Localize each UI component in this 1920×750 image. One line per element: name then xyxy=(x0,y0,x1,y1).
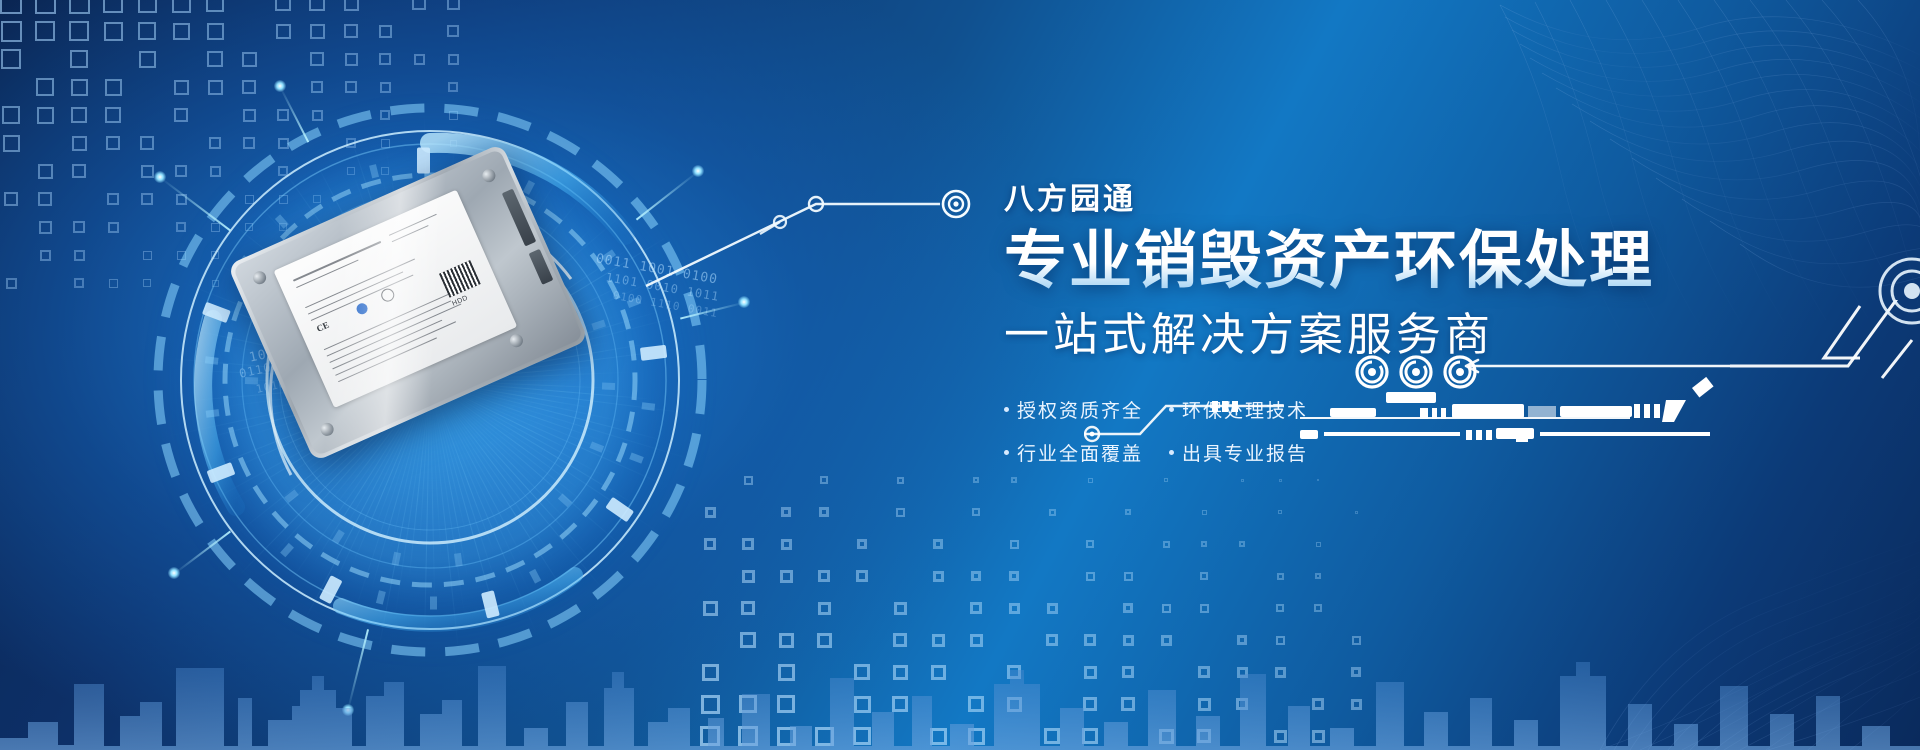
grid-square xyxy=(105,107,121,123)
radial-line xyxy=(198,370,430,381)
grid-square xyxy=(738,726,758,746)
ring-tick xyxy=(515,223,528,238)
edge-ring-icon xyxy=(1864,246,1920,336)
ring-tick xyxy=(605,497,634,522)
beam-dot-icon xyxy=(168,567,180,579)
grid-square xyxy=(1200,572,1208,580)
grid-square xyxy=(176,222,186,232)
radial-line xyxy=(298,266,430,380)
grid-square xyxy=(1084,666,1097,679)
ring-tick xyxy=(240,255,255,268)
grid-square xyxy=(1123,603,1133,613)
grid-square xyxy=(310,24,325,39)
grid-square xyxy=(452,282,454,284)
grid-square xyxy=(930,728,947,745)
grid-square xyxy=(777,727,796,746)
radial-line xyxy=(270,380,430,460)
grid-square xyxy=(817,633,832,648)
grid-square xyxy=(1009,571,1019,581)
grid-square xyxy=(103,0,123,13)
hdd-body: CE HDD xyxy=(227,143,589,461)
radial-line xyxy=(430,290,593,380)
radial-line xyxy=(424,380,430,636)
grid-square xyxy=(1083,697,1097,711)
radial-line xyxy=(266,380,430,522)
ring-tick xyxy=(205,356,219,365)
grid-square xyxy=(1237,667,1248,678)
grid-square xyxy=(1279,479,1282,482)
grid-square xyxy=(40,250,51,261)
radial-line xyxy=(430,160,483,380)
grid-square xyxy=(314,252,320,258)
grid-square xyxy=(414,54,425,65)
radial-line xyxy=(204,380,430,439)
grid-square xyxy=(1,21,22,42)
radial-line xyxy=(233,380,430,468)
radial-line xyxy=(430,380,495,552)
grid-square xyxy=(931,665,946,680)
grid-square xyxy=(1276,636,1285,645)
grid-square xyxy=(892,696,908,712)
grid-square xyxy=(1047,603,1058,614)
grid-square xyxy=(209,137,221,149)
grid-square xyxy=(450,168,456,174)
connector-node-icon xyxy=(774,216,786,228)
grid-square xyxy=(449,111,458,120)
grid-square xyxy=(276,24,291,39)
light-beam xyxy=(636,171,699,221)
radial-line xyxy=(430,366,596,381)
grid-square xyxy=(6,278,17,289)
radial-line xyxy=(235,380,430,381)
grid-square xyxy=(780,570,793,583)
grid-square xyxy=(1197,729,1211,743)
grid-square xyxy=(1046,634,1058,646)
radial-line xyxy=(332,380,430,509)
grid-square xyxy=(700,726,720,746)
beam-dot-icon xyxy=(738,296,750,308)
radial-line xyxy=(430,380,591,559)
radial-line xyxy=(430,380,500,628)
grid-square xyxy=(701,695,720,714)
grid-square xyxy=(740,632,756,648)
hard-disk-drive-image: CE HDD xyxy=(227,143,589,461)
grid-square xyxy=(73,221,85,233)
ring-tick xyxy=(430,597,437,610)
grid-square xyxy=(345,81,357,93)
grid-square xyxy=(1275,667,1286,678)
page-title: 专业销毁资产环保处理 xyxy=(1004,226,1724,298)
radial-line xyxy=(430,244,495,381)
radial-line xyxy=(415,154,430,381)
grid-square xyxy=(141,165,154,178)
grid-square xyxy=(1352,636,1361,645)
radial-line xyxy=(430,380,499,590)
radial-line xyxy=(212,304,430,381)
grid-square xyxy=(448,82,458,92)
grid-square xyxy=(174,108,188,122)
grid-square xyxy=(702,664,719,681)
beam-dot-icon xyxy=(342,704,354,716)
grid-square xyxy=(311,81,323,93)
grid-square xyxy=(140,136,154,150)
grid-square xyxy=(313,195,321,203)
grid-square xyxy=(856,570,868,582)
radial-line xyxy=(303,380,430,533)
list-item-label: 授权资质齐全 xyxy=(1017,396,1143,423)
grid-square xyxy=(705,507,716,518)
grid-square xyxy=(777,695,795,713)
radial-line xyxy=(313,380,430,564)
ring-tick xyxy=(602,383,615,390)
radial-line xyxy=(326,265,430,381)
radial-line xyxy=(430,210,435,381)
list-item-label: 出具专业报告 xyxy=(1182,439,1308,466)
grid-square xyxy=(208,80,223,95)
ring-tick xyxy=(369,164,379,178)
grid-square xyxy=(35,21,55,41)
grid-square xyxy=(968,696,984,712)
grid-square xyxy=(175,165,187,177)
radial-line xyxy=(430,343,649,381)
grid-square xyxy=(1082,728,1098,744)
hdd-label: CE HDD xyxy=(274,190,518,408)
grid-square xyxy=(779,633,794,648)
grid-square xyxy=(857,539,867,549)
radial-line xyxy=(307,232,430,381)
radial-line xyxy=(410,191,431,380)
radial-line xyxy=(430,342,611,381)
radial-line xyxy=(272,380,430,388)
grid-square xyxy=(245,195,254,204)
radial-line xyxy=(430,380,638,463)
radial-line xyxy=(382,177,431,381)
ring-tick xyxy=(376,590,386,604)
grid-square xyxy=(1202,510,1207,515)
grid-square xyxy=(309,0,325,11)
grid-square xyxy=(447,25,459,37)
ring-tick xyxy=(332,529,345,544)
radial-line xyxy=(269,273,430,381)
grid-square xyxy=(820,476,828,484)
radial-line xyxy=(430,380,524,559)
ring-tick xyxy=(202,302,231,323)
grid-square xyxy=(138,22,156,40)
radial-line xyxy=(430,380,596,409)
radial-line xyxy=(364,241,430,381)
radial-line xyxy=(430,380,668,487)
radial-line xyxy=(430,236,669,381)
grid-square xyxy=(380,82,391,93)
grid-square xyxy=(242,52,257,67)
grid-square xyxy=(970,634,983,647)
connector-line xyxy=(640,160,1000,290)
grid-square xyxy=(72,164,86,178)
list-item-label: 行业全面覆盖 xyxy=(1017,439,1143,466)
grid-square xyxy=(1351,667,1361,677)
grid-square xyxy=(280,252,287,259)
grid-square xyxy=(1164,478,1168,482)
radial-line xyxy=(430,281,630,381)
grid-square xyxy=(382,224,388,230)
radial-line xyxy=(430,380,607,594)
grid-square xyxy=(177,251,186,260)
ring-tick xyxy=(256,314,271,325)
radial-line xyxy=(430,380,542,527)
radial-line xyxy=(430,216,555,381)
radial-line xyxy=(430,380,665,441)
grid-square xyxy=(739,695,757,713)
grid-square xyxy=(1198,698,1211,711)
radial-line xyxy=(239,380,430,575)
grid-square xyxy=(1088,478,1093,483)
grid-square xyxy=(1278,510,1282,514)
grid-square xyxy=(1312,730,1325,743)
grid-square xyxy=(347,167,355,175)
ring-tick xyxy=(392,552,402,566)
grid-square xyxy=(348,224,354,230)
ring-tick xyxy=(417,148,430,174)
radial-line xyxy=(255,358,430,381)
grid-square xyxy=(781,539,792,550)
grid-square xyxy=(451,225,455,229)
grid-square xyxy=(37,107,54,124)
radial-line xyxy=(430,186,503,380)
radial-line xyxy=(430,380,442,562)
radial-line xyxy=(407,229,430,381)
grid-square xyxy=(932,634,945,647)
grid-square xyxy=(346,138,356,148)
radial-line xyxy=(430,247,562,381)
radial-line xyxy=(430,380,436,599)
grid-square xyxy=(1086,572,1095,581)
light-beam xyxy=(174,531,231,575)
radial-line xyxy=(192,380,430,511)
grid-square xyxy=(69,0,90,14)
radial-line xyxy=(272,380,430,555)
radial-line xyxy=(430,173,444,381)
grid-square xyxy=(107,193,119,205)
ring-glow xyxy=(150,100,710,660)
radial-line xyxy=(430,380,631,424)
grid-square xyxy=(38,192,52,206)
radial-line xyxy=(430,380,468,540)
radial-line xyxy=(409,380,431,579)
ring-tick xyxy=(640,345,667,361)
grid-square xyxy=(4,192,18,206)
radial-line xyxy=(212,260,431,381)
grid-square xyxy=(972,508,980,516)
grid-square xyxy=(381,167,389,175)
grid-square xyxy=(1355,511,1358,514)
radial-line xyxy=(266,380,431,490)
grid-square xyxy=(1237,635,1247,645)
grid-square xyxy=(349,253,354,258)
radial-line xyxy=(430,380,466,616)
radial-line xyxy=(395,380,431,615)
light-beam xyxy=(347,629,369,711)
radial-line xyxy=(430,380,627,550)
radial-line xyxy=(430,219,483,381)
grid-square xyxy=(1317,479,1319,481)
radial-line-fan xyxy=(105,55,755,705)
ring-tick xyxy=(523,180,535,195)
grid-square xyxy=(704,538,716,550)
grid-square xyxy=(971,571,981,581)
ring-tick xyxy=(454,553,463,567)
ring-tick xyxy=(288,260,302,274)
ring-tick xyxy=(481,590,500,618)
radial-line xyxy=(218,380,430,408)
ring-tick xyxy=(206,409,220,418)
ring-tick xyxy=(280,543,294,557)
radial-line xyxy=(430,155,525,380)
grid-square xyxy=(897,477,904,484)
radial-line xyxy=(430,380,469,578)
radial-line xyxy=(430,380,552,494)
grid-square xyxy=(211,251,219,259)
grid-square xyxy=(1121,697,1135,711)
grid-square xyxy=(277,109,289,121)
radial-line xyxy=(337,234,431,381)
grid-square xyxy=(744,476,753,485)
grid-square xyxy=(349,281,353,285)
radial-line xyxy=(430,276,562,381)
grid-square xyxy=(1277,573,1284,580)
radial-line xyxy=(430,348,687,381)
radial-line xyxy=(230,380,431,502)
grid-square xyxy=(1122,666,1134,678)
radial-line xyxy=(383,215,430,381)
grid-square xyxy=(893,633,907,647)
grid-square xyxy=(1,49,21,69)
radial-line xyxy=(350,167,430,381)
grid-square xyxy=(815,727,834,746)
ring-tick xyxy=(627,297,642,308)
radial-line xyxy=(356,204,431,380)
ring-tick xyxy=(641,402,655,411)
bullet-dot-icon xyxy=(1169,407,1174,412)
grid-square xyxy=(1201,541,1207,547)
grid-square xyxy=(211,223,220,232)
radial-line xyxy=(430,159,571,381)
hero-banner: 1001 0010 1100 0110 1011 0010 1010 0110 … xyxy=(0,0,1920,750)
light-beam xyxy=(159,177,230,232)
grid-square xyxy=(818,570,830,582)
radial-line xyxy=(430,380,605,519)
grid-square xyxy=(741,601,755,615)
binary-bits: 0011 1001 0100 xyxy=(595,251,719,287)
grid-square xyxy=(139,51,156,68)
feature-bullet-list: 授权资质齐全 环保处理技术 行业全面覆盖 出具专业报告 xyxy=(1004,396,1308,466)
grid-square xyxy=(1049,509,1056,516)
radial-line xyxy=(270,309,430,381)
ring-tick xyxy=(319,575,343,604)
grid-square xyxy=(242,80,256,94)
bullet-dot-icon xyxy=(1169,450,1174,455)
radial-line xyxy=(291,198,430,381)
radial-line xyxy=(348,128,431,380)
radial-line xyxy=(325,198,431,380)
grid-square xyxy=(207,51,223,67)
pixel-square-grid-top-left xyxy=(0,0,470,292)
grid-square xyxy=(896,508,905,517)
grid-square xyxy=(173,23,190,40)
grid-square xyxy=(742,538,754,550)
grid-square xyxy=(1236,698,1248,710)
grid-square xyxy=(412,0,426,10)
grid-square xyxy=(384,282,387,285)
tech-ring-graphic xyxy=(105,55,755,705)
grid-square xyxy=(854,696,871,713)
radial-line xyxy=(196,380,431,474)
grid-square xyxy=(1007,697,1022,712)
grid-square xyxy=(1315,573,1321,579)
grid-square xyxy=(968,728,985,745)
ring-tick xyxy=(245,377,258,384)
grid-square xyxy=(1198,666,1210,678)
radial-line xyxy=(162,357,430,381)
grid-square xyxy=(72,136,87,151)
radial-line xyxy=(430,185,543,380)
list-item: 出具专业报告 xyxy=(1169,439,1308,466)
grid-square xyxy=(778,664,795,681)
radial-line xyxy=(430,127,502,381)
grid-square xyxy=(105,79,122,96)
radial-line xyxy=(430,380,557,562)
radial-line xyxy=(430,380,580,490)
list-item-label: 环保处理技术 xyxy=(1182,396,1308,423)
radial-line xyxy=(371,380,431,590)
radial-line xyxy=(240,286,430,381)
radial-line xyxy=(278,341,430,381)
grid-square xyxy=(35,0,56,14)
grid-square xyxy=(344,0,359,11)
grid-square xyxy=(448,54,459,65)
hdd-ce-mark: CE xyxy=(315,320,331,334)
radial-line xyxy=(430,380,606,442)
radial-line xyxy=(430,380,653,400)
radial-line xyxy=(278,162,431,381)
binary-bits: 1010 0110 1101 xyxy=(255,361,362,396)
grid-square xyxy=(310,52,324,66)
grid-square xyxy=(1274,730,1287,743)
grid-square xyxy=(380,110,390,120)
radial-line xyxy=(220,344,430,381)
radial-line xyxy=(185,328,430,381)
light-beam xyxy=(279,87,309,143)
grid-square xyxy=(970,602,982,614)
ring-tick xyxy=(629,452,644,463)
grid-square xyxy=(382,196,389,203)
grid-square xyxy=(275,0,291,11)
grid-square xyxy=(1007,665,1021,679)
ring-tick xyxy=(558,493,572,507)
radial-line xyxy=(430,246,632,381)
grid-square xyxy=(1011,477,1017,483)
radial-line xyxy=(430,380,533,597)
radial-line xyxy=(373,380,430,532)
radial-line xyxy=(430,274,668,381)
grid-square xyxy=(210,166,221,177)
radial-line xyxy=(352,380,430,564)
ring-tick xyxy=(529,569,541,584)
radial-line xyxy=(430,380,513,523)
grid-square xyxy=(143,279,151,287)
radial-line xyxy=(340,380,431,536)
grid-square xyxy=(1086,540,1094,548)
grid-square xyxy=(893,665,908,680)
